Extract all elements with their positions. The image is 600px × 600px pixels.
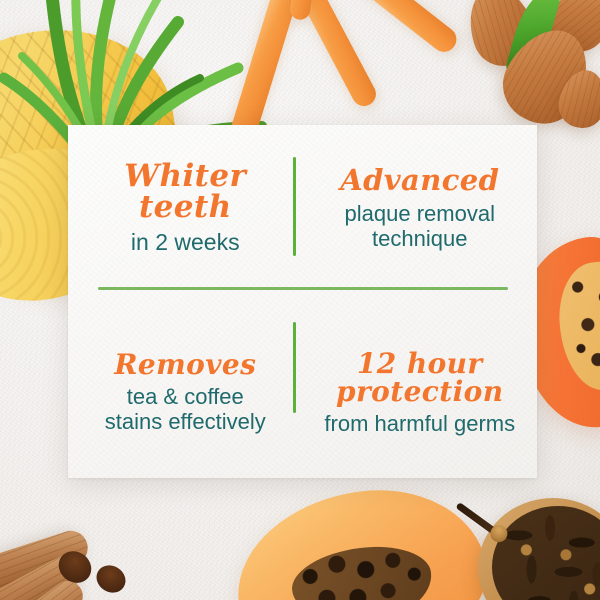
- feature-subtext: from harmful germs: [324, 411, 515, 436]
- feature-cell-12-hour-protection: 12 hour protection from harmful germs: [303, 302, 538, 479]
- feature-headline: Whiter teeth: [78, 161, 293, 223]
- feature-cell-advanced-plaque-removal: Advanced plaque removal technique: [303, 125, 538, 302]
- feature-headline: Advanced: [340, 166, 499, 195]
- feature-cell-removes-stains: Removes tea & coffee stains effectively: [68, 302, 303, 479]
- feature-subtext: in 2 weeks: [131, 229, 240, 255]
- feature-card: Whiter teeth in 2 weeks Advanced plaque …: [68, 125, 537, 478]
- divider-horizontal: [98, 287, 508, 290]
- feature-subtext: tea & coffee stains effectively: [105, 384, 266, 434]
- feature-cell-whiter-teeth: Whiter teeth in 2 weeks: [68, 125, 303, 302]
- feature-headline: 12 hour protection: [336, 350, 503, 406]
- promo-graphic: Whiter teeth in 2 weeks Advanced plaque …: [0, 0, 600, 600]
- divider-vertical-top: [293, 157, 296, 256]
- feature-subtext: plaque removal technique: [345, 201, 495, 251]
- feature-headline: Removes: [114, 351, 256, 379]
- divider-vertical-bottom: [293, 322, 296, 413]
